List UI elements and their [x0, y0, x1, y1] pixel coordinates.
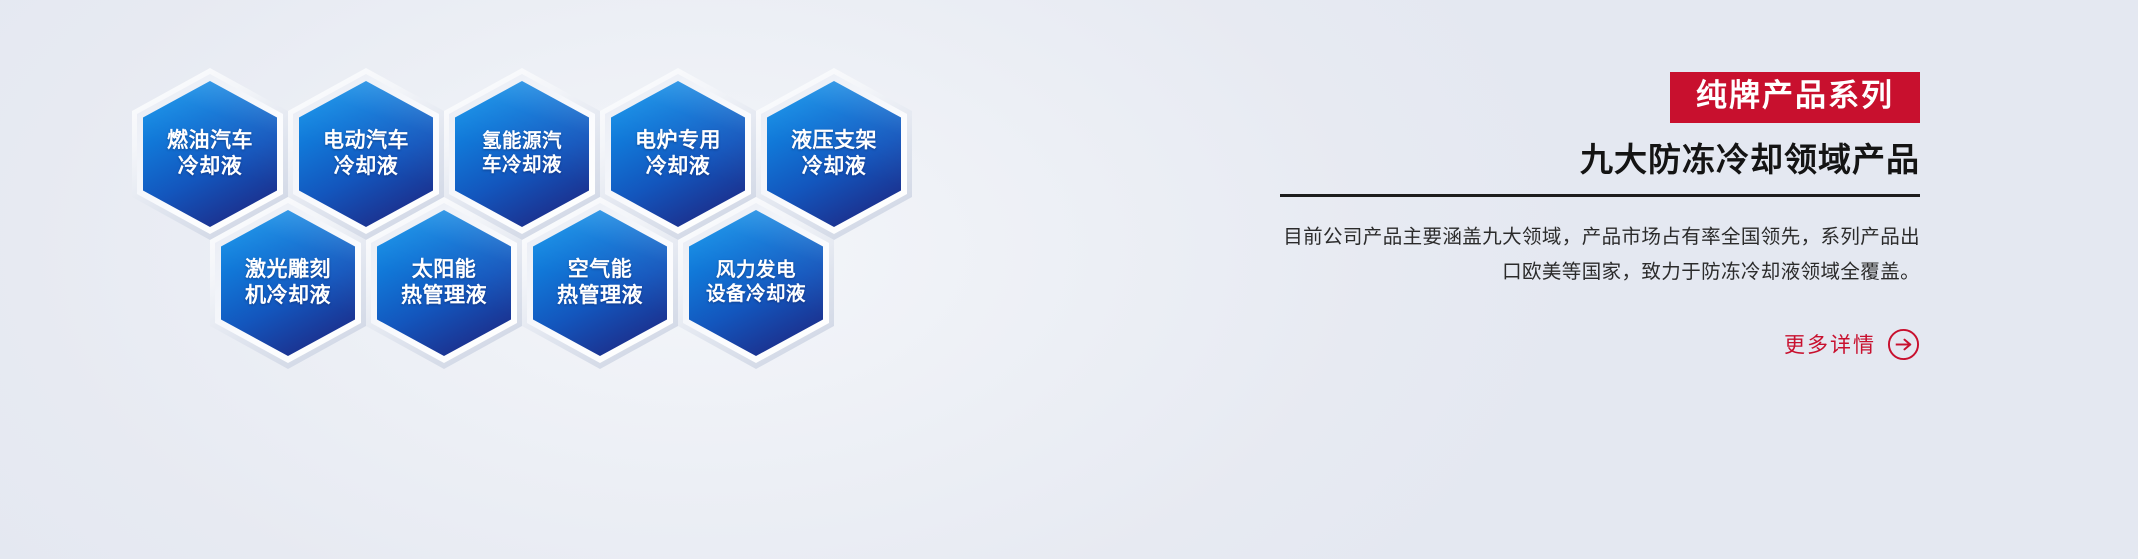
more-details-link[interactable]: 更多详情 — [1280, 328, 1920, 361]
hex-label: 空气能 热管理液 — [551, 257, 649, 308]
arrow-right-circle-icon — [1887, 328, 1920, 361]
hex-label: 太阳能 热管理液 — [395, 257, 493, 308]
hex-label: 液压支架 冷却液 — [785, 128, 883, 179]
hex-laser-engraver-coolant[interactable]: 激光雕刻 机冷却液 — [210, 197, 366, 369]
panel-headline: 九大防冻冷却领域产品 — [1280, 140, 1920, 180]
hex-label: 电动汽车 冷却液 — [317, 128, 415, 179]
hex-wind-power-coolant[interactable]: 风力发电 设备冷却液 — [678, 197, 834, 369]
banner-stage: 燃油汽车 冷却液 电动汽车 冷却液 氢能源汽 车冷却液 电炉专用 冷却液 — [0, 0, 2138, 559]
info-panel: 纯牌产品系列 九大防冻冷却领域产品 目前公司产品主要涵盖九大领域，产品市场占有率… — [1280, 72, 1920, 361]
hex-air-source-thermal-fluid[interactable]: 空气能 热管理液 — [522, 197, 678, 369]
hex-solar-thermal-fluid[interactable]: 太阳能 热管理液 — [366, 197, 522, 369]
hex-label: 氢能源汽 车冷却液 — [476, 130, 568, 178]
divider-rule — [1280, 194, 1920, 197]
hex-label: 电炉专用 冷却液 — [629, 128, 727, 179]
hex-label: 激光雕刻 机冷却液 — [239, 257, 337, 308]
series-badge: 纯牌产品系列 — [1670, 72, 1920, 123]
hex-label: 燃油汽车 冷却液 — [161, 128, 259, 179]
hex-label: 风力发电 设备冷却液 — [700, 259, 812, 307]
more-details-label: 更多详情 — [1784, 329, 1876, 359]
panel-body-text: 目前公司产品主要涵盖九大领域，产品市场占有率全国领先，系列产品出口欧美等国家，致… — [1280, 220, 1920, 289]
product-hex-grid: 燃油汽车 冷却液 电动汽车 冷却液 氢能源汽 车冷却液 电炉专用 冷却液 — [110, 38, 930, 378]
